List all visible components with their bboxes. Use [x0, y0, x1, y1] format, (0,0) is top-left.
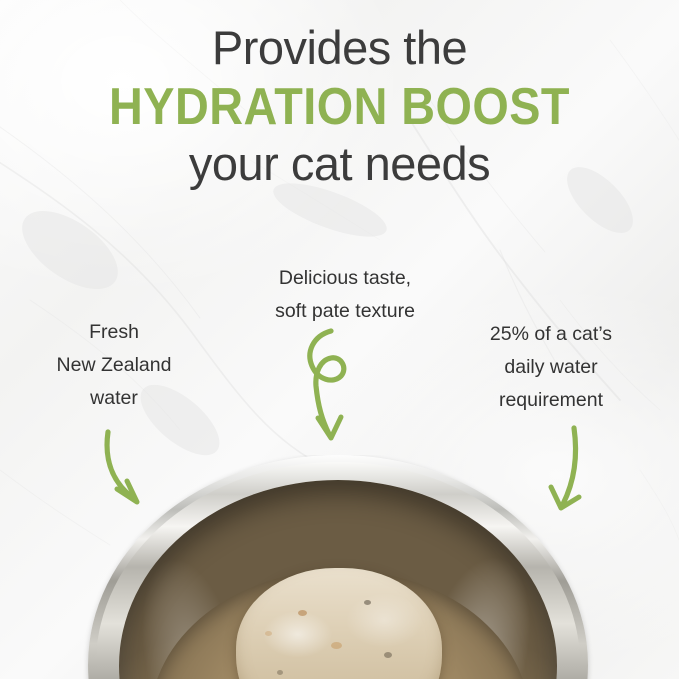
heading-line-3: your cat needs	[0, 138, 679, 190]
callout-delicious-taste: Delicious taste, soft pate texture	[245, 262, 445, 328]
callout-mid-line-2: soft pate texture	[245, 295, 445, 328]
callout-left-line-1: Fresh	[28, 316, 200, 349]
callout-left-line-3: water	[28, 382, 200, 415]
promotional-graphic: Provides the HYDRATION BOOST your cat ne…	[0, 0, 679, 679]
callout-right-line-1: 25% of a cat’s	[465, 318, 637, 351]
callout-daily-water-requirement: 25% of a cat’s daily water requirement	[465, 318, 637, 417]
callout-mid-line-1: Delicious taste,	[245, 262, 445, 295]
callout-fresh-new-zealand-water: Fresh New Zealand water	[28, 316, 200, 415]
callout-right-line-3: requirement	[465, 384, 637, 417]
callout-right-line-2: daily water	[465, 351, 637, 384]
heading-line-2-hydration-boost: HYDRATION BOOST	[34, 78, 645, 136]
cat-food-bowl-image	[0, 455, 679, 679]
heading-line-1: Provides the	[0, 22, 679, 74]
callout-left-line-2: New Zealand	[28, 349, 200, 382]
